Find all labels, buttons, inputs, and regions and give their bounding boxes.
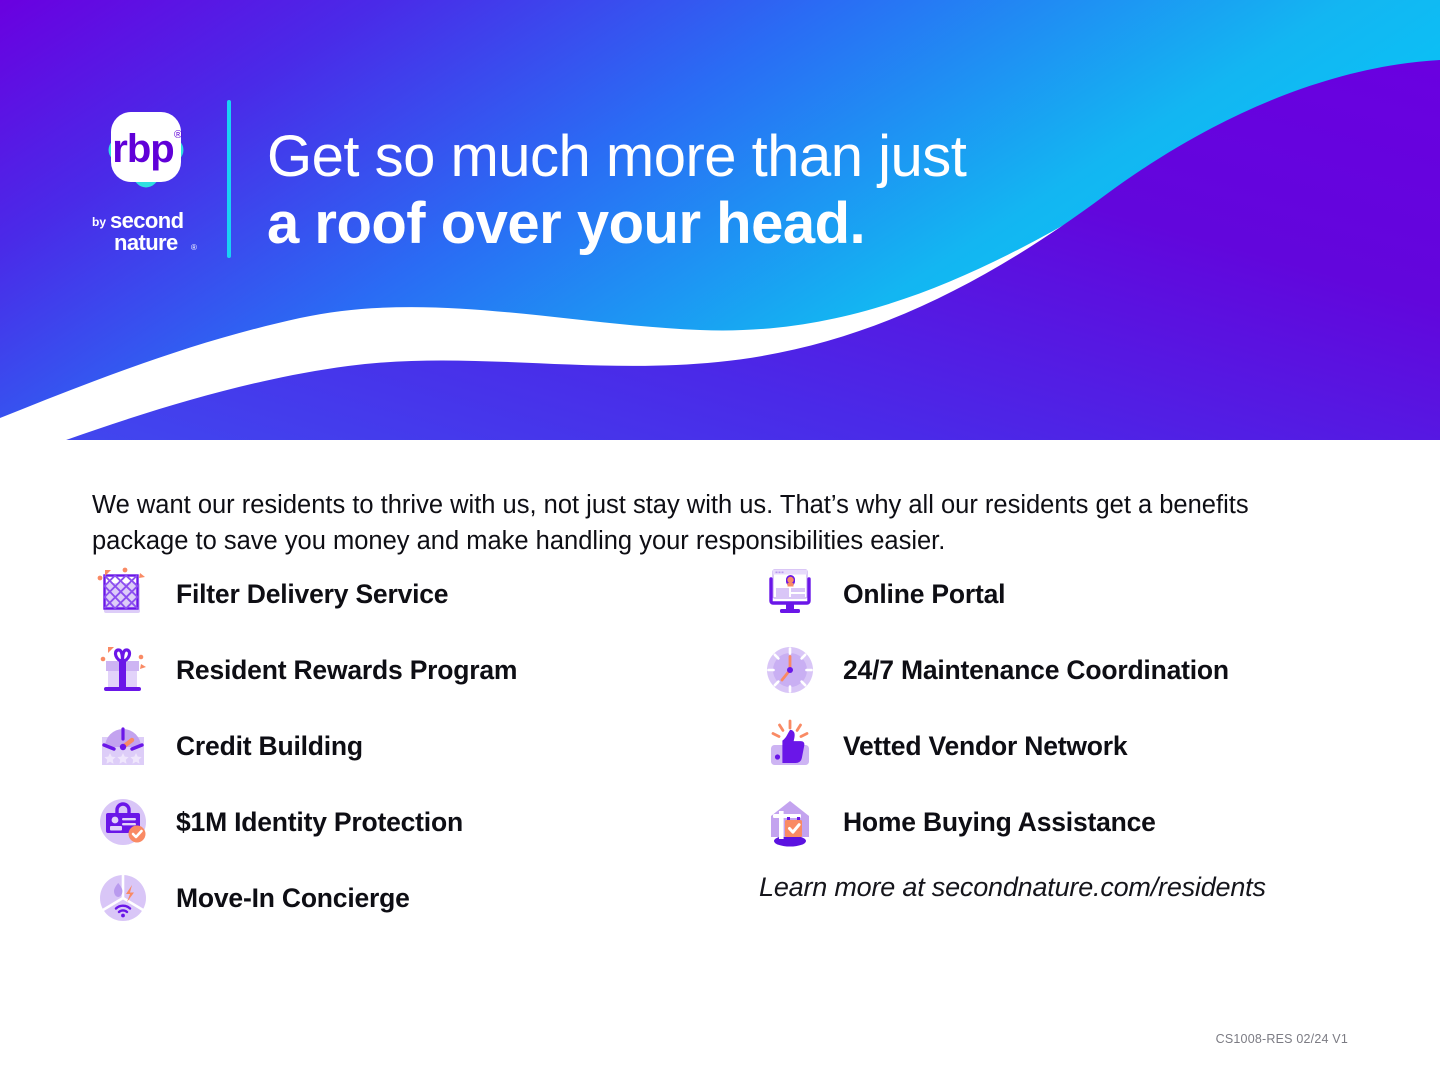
benefit-item-home-buying-assistance: Home Buying Assistance xyxy=(759,784,1379,860)
rbp-logo: rbp ® by second nature ® xyxy=(88,98,208,258)
utilities-pie-icon xyxy=(92,867,154,929)
svg-text:®: ® xyxy=(191,243,197,252)
id-briefcase-check-icon xyxy=(92,791,154,853)
headline-line-2: a roof over your head. xyxy=(267,194,1167,254)
filter-mesh-icon xyxy=(92,563,154,625)
credit-gauge-stars-icon xyxy=(92,715,154,777)
benefit-label: Credit Building xyxy=(176,731,363,762)
benefit-label: Resident Rewards Program xyxy=(176,655,517,686)
svg-text:rbp: rbp xyxy=(112,127,173,171)
benefit-item-resident-rewards-program: Resident Rewards Program xyxy=(92,632,712,708)
benefit-item-online-portal: Online Portal xyxy=(759,556,1379,632)
benefit-label: Move-In Concierge xyxy=(176,883,410,914)
svg-text:by: by xyxy=(92,215,106,229)
benefits-right-column: Online Portal 24/7 Main xyxy=(759,556,1379,860)
intro-paragraph: We want our residents to thrive with us,… xyxy=(92,487,1307,559)
benefit-label: 24/7 Maintenance Coordination xyxy=(843,655,1229,686)
benefit-item-maintenance-coordination: 24/7 Maintenance Coordination xyxy=(759,632,1379,708)
marketing-flyer-page: rbp ® by second nature ® Get so much mor… xyxy=(0,0,1440,1080)
svg-text:®: ® xyxy=(174,129,182,141)
benefit-label: Online Portal xyxy=(843,579,1005,610)
monitor-portal-icon xyxy=(759,563,821,625)
learn-more-text: Learn more at secondnature.com/residents xyxy=(759,872,1266,903)
headline-line-1: Get so much more than just xyxy=(267,127,1167,187)
benefit-item-filter-delivery-service: Filter Delivery Service xyxy=(92,556,712,632)
thumbs-up-icon xyxy=(759,715,821,777)
benefits-section: Filter Delivery Service Resident Rewards… xyxy=(92,556,1362,956)
benefit-label: Home Buying Assistance xyxy=(843,807,1156,838)
benefit-item-move-in-concierge: Move-In Concierge xyxy=(92,860,712,936)
rbp-logo-mark-icon: rbp ® xyxy=(94,98,198,202)
benefit-label: Vetted Vendor Network xyxy=(843,731,1127,762)
benefit-label: Filter Delivery Service xyxy=(176,579,448,610)
house-sign-check-icon xyxy=(759,791,821,853)
benefit-item-credit-building: Credit Building xyxy=(92,708,712,784)
hero-headline: Get so much more than just a roof over y… xyxy=(267,127,1167,254)
document-code: CS1008-RES 02/24 V1 xyxy=(1216,1032,1348,1046)
clock-icon xyxy=(759,639,821,701)
svg-text:nature: nature xyxy=(114,230,178,255)
benefit-item-vetted-vendor-network: Vetted Vendor Network xyxy=(759,708,1379,784)
benefits-left-column: Filter Delivery Service Resident Rewards… xyxy=(92,556,712,936)
gift-box-icon xyxy=(92,639,154,701)
hero-vertical-divider xyxy=(227,100,231,258)
benefit-label: $1M Identity Protection xyxy=(176,807,463,838)
hero-banner: rbp ® by second nature ® Get so much mor… xyxy=(0,0,1440,440)
second-nature-wordmark-icon: by second nature ® xyxy=(88,204,208,258)
benefit-item-identity-protection: $1M Identity Protection xyxy=(92,784,712,860)
